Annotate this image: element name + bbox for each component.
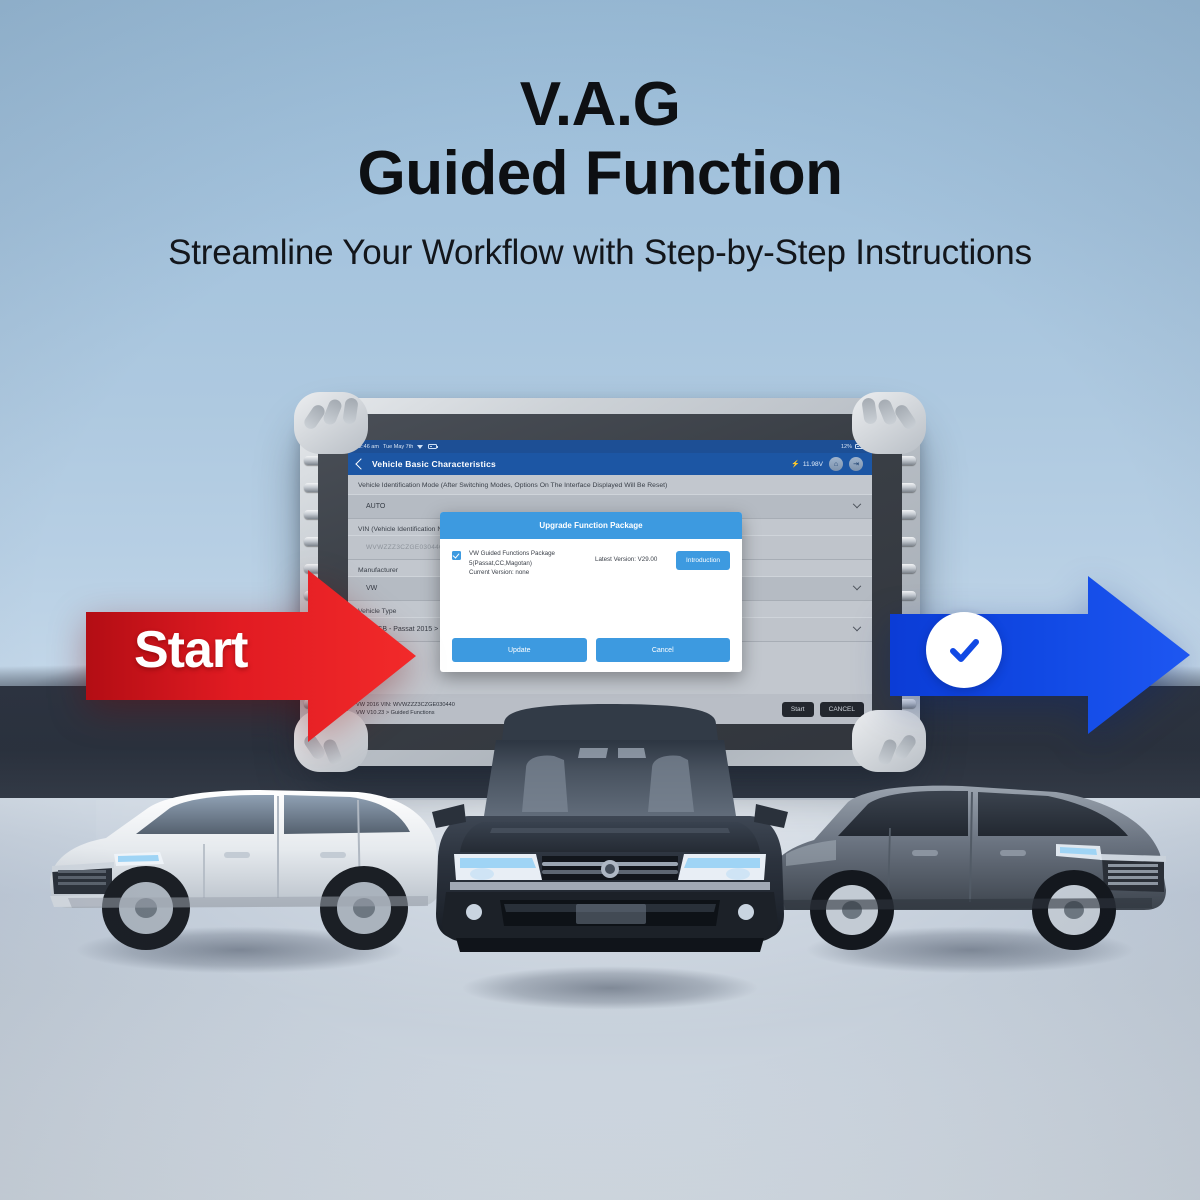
gray-sedan-illustration <box>756 742 1186 960</box>
package-name: VW Guided Functions Package 5(Passat,CC,… <box>469 550 555 567</box>
car-gray-sedan <box>756 742 1186 960</box>
app-title-bar: Vehicle Basic Characteristics ⚡ 11.98V ⌂… <box>348 453 872 475</box>
tablet-corner-pad <box>852 392 926 454</box>
diagnostic-app: 12:46 am Tue May 7th 12% Vehicle Basic C… <box>348 440 872 724</box>
voltage-readout: ⚡ 11.98V <box>791 460 823 468</box>
chevron-down-icon <box>853 499 861 507</box>
tablet-screen: 12:46 am Tue May 7th 12% Vehicle Basic C… <box>348 440 872 724</box>
upgrade-function-package-dialog: Upgrade Function Package VW Guided Funct… <box>440 512 742 672</box>
dialog-cancel-button[interactable]: Cancel <box>596 638 731 662</box>
current-version: Current Version: none <box>469 569 529 576</box>
car-white-suv <box>28 748 448 958</box>
battery-percent: 12% <box>841 444 852 450</box>
headline-block: V.A.G Guided Function Streamline Your Wo… <box>0 70 1200 273</box>
android-status-bar: 12:46 am Tue May 7th 12% <box>348 440 872 453</box>
chevron-down-icon <box>853 581 861 589</box>
dialog-actions: Update Cancel <box>440 638 742 672</box>
dialog-body: VW Guided Functions Package 5(Passat,CC,… <box>440 539 742 638</box>
tablet-corner-pad <box>294 392 368 454</box>
battery-icon-small <box>428 444 437 449</box>
vin-placeholder: WVWZZZ3CZGE030440 <box>366 544 443 551</box>
car-dark-hatchback <box>430 700 790 1000</box>
start-label: Start <box>134 620 247 680</box>
exit-icon[interactable]: ⇥ <box>849 457 863 471</box>
update-button[interactable]: Update <box>452 638 587 662</box>
chevron-down-icon <box>853 622 861 630</box>
status-date: Tue May 7th <box>383 444 413 450</box>
page-subtitle: Streamline Your Workflow with Step-by-St… <box>0 233 1200 273</box>
done-callout-arrow <box>890 574 1190 736</box>
title-line-2: Guided Function <box>0 139 1200 208</box>
promo-banner: V.A.G Guided Function Streamline Your Wo… <box>0 0 1200 1200</box>
identification-mode-value: AUTO <box>366 503 385 510</box>
package-checkbox[interactable] <box>452 551 461 560</box>
home-icon[interactable]: ⌂ <box>829 457 843 471</box>
check-circle-icon <box>926 612 1002 688</box>
mode-hint: Vehicle Identification Mode (After Switc… <box>348 475 872 494</box>
check-mark-icon <box>942 628 986 672</box>
back-chevron-icon[interactable] <box>355 458 366 469</box>
white-suv-illustration <box>28 748 448 958</box>
dark-hatchback-illustration <box>430 700 790 1000</box>
page-title: V.A.G Guided Function <box>0 70 1200 209</box>
package-info: VW Guided Functions Package 5(Passat,CC,… <box>469 549 587 578</box>
introduction-button[interactable]: Introduction <box>676 551 730 570</box>
voltage-value: 11.98V <box>803 461 823 468</box>
start-callout-arrow: Start <box>86 568 416 744</box>
wifi-icon <box>417 444 424 449</box>
dialog-title: Upgrade Function Package <box>440 512 742 539</box>
title-line-1: V.A.G <box>520 70 681 139</box>
latest-version: Latest Version: V29.00 <box>595 556 668 563</box>
bolt-icon: ⚡ <box>791 460 800 468</box>
screen-title: Vehicle Basic Characteristics <box>372 459 496 469</box>
cancel-button[interactable]: CANCEL <box>820 702 864 717</box>
